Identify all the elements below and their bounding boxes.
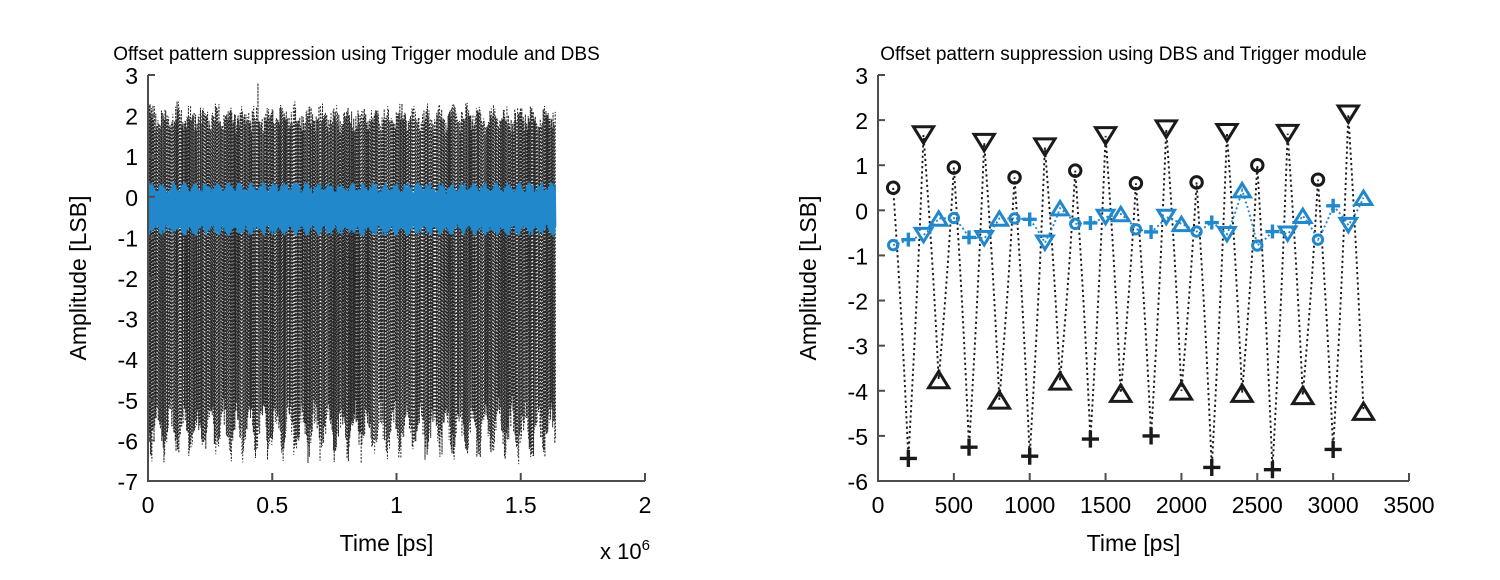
right-series-black-point-plus-marker	[1082, 430, 1099, 447]
right-series-black-point-triangle-up-marker	[1293, 387, 1313, 403]
right-series-black-point-triangle-down-marker	[1338, 106, 1358, 122]
right-series-blue-point-circle-marker	[1010, 214, 1019, 223]
right-series-blue-point-triangle-up-marker	[1173, 217, 1190, 230]
right-ytick-label: 0	[855, 198, 868, 224]
left-chart-svg: Offset pattern suppression using Trigger…	[0, 0, 750, 580]
right-chart-svg: Offset pattern suppression using DBS and…	[750, 0, 1500, 580]
right-series-black-point-triangle-up-marker	[989, 392, 1009, 408]
right-series-black-point-circle-marker	[887, 182, 898, 193]
right-xaxis-label: Time [ps]	[1087, 530, 1181, 556]
right-series-blue-point-triangle-up-marker	[1295, 209, 1312, 222]
right-series-black-point-plus-marker	[1021, 448, 1038, 465]
right-series-blue-point-triangle-down-marker	[1037, 236, 1054, 249]
left-ytick-label: 1	[125, 144, 138, 170]
right-series-black-point-plus-marker	[1203, 459, 1220, 476]
right-xtick-label: 2000	[1156, 492, 1207, 518]
right-series-blue-point-plus-marker	[1326, 199, 1340, 213]
right-series-black-point-plus-marker	[1325, 441, 1342, 458]
right-series-group	[887, 106, 1373, 478]
right-series-black-point-plus-marker	[1264, 461, 1281, 478]
right-series-black-point-triangle-down-marker	[913, 127, 933, 143]
right-series-blue-point-plus-marker	[1023, 212, 1037, 226]
right-series-blue-point-circle-marker	[1253, 241, 1262, 250]
left-xtick-label: 0.5	[256, 492, 288, 518]
right-series-black-point-plus-marker	[900, 450, 917, 467]
right-series-black-point-triangle-down-marker	[1156, 121, 1176, 137]
right-xtick-label: 3000	[1308, 492, 1359, 518]
left-series-blue	[148, 183, 556, 236]
left-xtick-label: 2	[639, 492, 652, 518]
right-series-black-line	[893, 114, 1363, 469]
left-ytick-label: -2	[118, 266, 138, 292]
right-series-blue-point-plus-marker	[962, 230, 976, 244]
right-series-black-point-triangle-up-marker	[1171, 383, 1191, 399]
right-series-black-point-triangle-up-marker	[1111, 385, 1131, 401]
right-plot-group: Offset pattern suppression using DBS and…	[795, 44, 1435, 556]
right-series-blue-point-plus-marker	[1205, 215, 1219, 229]
right-ytick-label: -2	[848, 289, 868, 315]
right-xtick-label: 1500	[1080, 492, 1131, 518]
left-ytick-label: -5	[118, 388, 138, 414]
right-series-blue-point-triangle-down-marker	[1158, 210, 1175, 223]
right-series-black-point-triangle-down-marker	[1035, 139, 1055, 155]
right-ytick-label: -6	[848, 469, 868, 495]
right-series-blue-point-circle-marker	[1071, 219, 1080, 228]
right-chart-title: Offset pattern suppression using DBS and…	[880, 44, 1367, 65]
left-xaxis-label: Time [ps]	[340, 530, 434, 556]
right-ytick-label: -1	[848, 243, 868, 269]
right-xtick-label: 0	[872, 492, 885, 518]
left-xtick-label: 0	[142, 492, 155, 518]
left-ytick-label: -4	[118, 347, 139, 373]
right-series-black-point-triangle-up-marker	[1353, 403, 1373, 419]
left-ytick-label: -3	[118, 307, 138, 333]
left-chart-title: Offset pattern suppression using Trigger…	[113, 44, 600, 65]
right-series-blue-point-plus-marker	[1083, 216, 1097, 230]
figure-container: Offset pattern suppression using Trigger…	[0, 0, 1500, 580]
left-x-multiplier-exponent: 6	[642, 537, 650, 554]
right-axis-lines	[878, 75, 1409, 481]
left-xtick-label: 1.5	[505, 492, 537, 518]
right-series-black-point-plus-marker	[1143, 427, 1160, 444]
right-series-black-point-triangle-down-marker	[1278, 125, 1298, 141]
right-ytick-label: -3	[848, 334, 868, 360]
left-plot-group: Offset pattern suppression using Trigger…	[65, 44, 651, 564]
right-ytick-label: 1	[855, 153, 868, 179]
right-series-blue-point-triangle-up-marker	[930, 212, 947, 225]
left-ytick-label: 3	[125, 63, 138, 89]
right-series-black-point-triangle-up-marker	[1050, 373, 1070, 389]
right-series-blue-point-circle-marker	[1131, 225, 1140, 234]
right-series-black-point-triangle-down-marker	[974, 134, 994, 150]
chart-panel-right: Offset pattern suppression using DBS and…	[750, 0, 1500, 580]
right-series-blue-point-triangle-down-marker	[1279, 227, 1296, 240]
right-series-black-point-triangle-down-marker	[1095, 128, 1115, 144]
left-series-black	[148, 83, 556, 464]
left-series-group	[148, 83, 556, 464]
right-series-black-point-triangle-up-marker	[1232, 385, 1252, 401]
right-xtick-label: 1000	[1004, 492, 1055, 518]
right-ytick-label: 2	[855, 108, 868, 134]
right-xtick-label: 3500	[1383, 492, 1434, 518]
left-xtick-label: 1	[390, 492, 403, 518]
left-ytick-label: -6	[118, 428, 138, 454]
right-xtick-label: 2500	[1232, 492, 1283, 518]
left-yaxis-label: Amplitude [LSB]	[65, 196, 91, 361]
chart-panel-left: Offset pattern suppression using Trigger…	[0, 0, 750, 580]
left-ytick-label: 2	[125, 104, 138, 130]
right-series-black-point-plus-marker	[960, 439, 977, 456]
left-ytick-label: 0	[125, 185, 138, 211]
right-series-black-point-triangle-down-marker	[1217, 124, 1237, 140]
right-series-black-point-triangle-up-marker	[929, 371, 949, 387]
right-yaxis-label: Amplitude [LSB]	[795, 196, 821, 361]
left-ytick-label: -1	[118, 225, 138, 251]
right-series-blue-point-triangle-down-marker	[915, 228, 932, 241]
right-series-blue-point-plus-marker	[901, 233, 915, 247]
right-xtick-label: 500	[935, 492, 973, 518]
left-x-multiplier: x 106	[600, 537, 650, 564]
right-ytick-label: -4	[848, 379, 869, 405]
right-ytick-label: 3	[855, 63, 868, 89]
right-ytick-label: -5	[848, 424, 868, 450]
left-ytick-label: -7	[118, 469, 138, 495]
right-series-blue-point-plus-marker	[1144, 225, 1158, 239]
